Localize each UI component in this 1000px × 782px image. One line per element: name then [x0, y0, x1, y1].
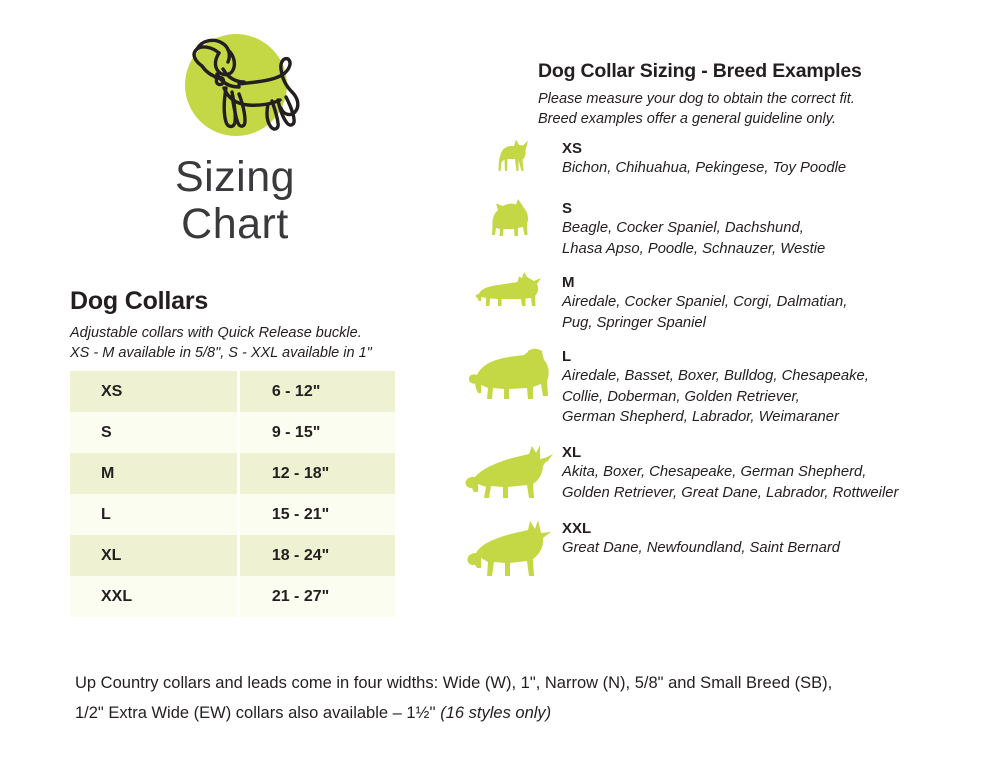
breed-size-label: L [562, 348, 869, 365]
size-cell: XXL [70, 576, 237, 617]
retriever-silhouette-icon [468, 346, 554, 406]
range-cell: 12 - 18" [237, 453, 395, 494]
table-row: M 12 - 18" [70, 453, 395, 494]
breed-examples-heading-block: Dog Collar Sizing - Breed Examples Pleas… [538, 60, 958, 129]
section-subtitle-line-2: XS - M available in 5/8", S - XXL availa… [70, 343, 430, 363]
breed-size-label: S [562, 200, 825, 217]
breed-size-label: XS [562, 140, 846, 157]
dog-collars-heading-block: Dog Collars Adjustable collars with Quic… [70, 287, 430, 363]
breed-examples-text: Akita, Boxer, Chesapeake, German Shepher… [562, 462, 898, 503]
great-dane-silhouette-icon [465, 518, 557, 582]
chihuahua-silhouette-icon [488, 138, 534, 178]
breed-icon-slot [460, 346, 562, 406]
list-item: S Beagle, Cocker Spaniel, Dachshund, Lha… [460, 198, 960, 270]
footer-line-2-text: 1/2" Extra Wide (EW) collars also availa… [75, 704, 440, 722]
list-item: L Airedale, Basset, Boxer, Bulldog, Ches… [460, 346, 960, 440]
breed-size-label: XXL [562, 520, 840, 537]
breed-examples-title: Dog Collar Sizing - Breed Examples [538, 60, 958, 83]
wordmark-line-2: Chart [70, 201, 400, 248]
footer-line-2: 1/2" Extra Wide (EW) collars also availa… [75, 698, 965, 728]
breed-text: S Beagle, Cocker Spaniel, Dachshund, Lha… [562, 198, 825, 259]
range-cell: 18 - 24" [237, 535, 395, 576]
sizing-chart-page: Sizing Chart Dog Collars Adjustable coll… [0, 0, 1000, 782]
breed-size-label: XL [562, 444, 898, 461]
collar-size-table: XS 6 - 12" S 9 - 15" M 12 - 18" L 15 - 2… [70, 371, 395, 617]
table-row: L 15 - 21" [70, 494, 395, 535]
section-title: Dog Collars [70, 287, 430, 316]
breed-subtitle-line-1: Please measure your dog to obtain the co… [538, 89, 958, 109]
breed-icon-slot [460, 198, 562, 242]
breed-icon-slot [460, 138, 562, 178]
footer-line-1: Up Country collars and leads come in fou… [75, 668, 965, 698]
breed-subtitle-line-2: Breed examples offer a general guideline… [538, 109, 958, 129]
range-cell: 9 - 15" [237, 412, 395, 453]
list-item: XL Akita, Boxer, Chesapeake, German Shep… [460, 442, 960, 516]
logo-block: Sizing Chart [70, 28, 400, 248]
terrier-silhouette-icon [485, 198, 537, 242]
breed-examples-text: Bichon, Chihuahua, Pekingese, Toy Poodle [562, 158, 846, 179]
table-row: XXL 21 - 27" [70, 576, 395, 617]
breed-text: L Airedale, Basset, Boxer, Bulldog, Ches… [562, 346, 869, 428]
size-cell: XS [70, 371, 237, 412]
size-table-body: XS 6 - 12" S 9 - 15" M 12 - 18" L 15 - 2… [70, 371, 395, 617]
corgi-silhouette-icon [475, 272, 547, 314]
table-row: S 9 - 15" [70, 412, 395, 453]
list-item: XXL Great Dane, Newfoundland, Saint Bern… [460, 518, 960, 578]
range-cell: 21 - 27" [237, 576, 395, 617]
breed-text: M Airedale, Cocker Spaniel, Corgi, Dalma… [562, 272, 847, 333]
size-cell: L [70, 494, 237, 535]
breed-icon-slot [460, 518, 562, 582]
list-item: XS Bichon, Chihuahua, Pekingese, Toy Poo… [460, 138, 960, 196]
breed-examples-text: Great Dane, Newfoundland, Saint Bernard [562, 538, 840, 559]
breed-examples-text: Airedale, Cocker Spaniel, Corgi, Dalmati… [562, 292, 847, 333]
table-row: XL 18 - 24" [70, 535, 395, 576]
wordmark-line-1: Sizing [70, 154, 400, 201]
size-cell: M [70, 453, 237, 494]
size-cell: S [70, 412, 237, 453]
table-row: XS 6 - 12" [70, 371, 395, 412]
breed-text: XS Bichon, Chihuahua, Pekingese, Toy Poo… [562, 138, 846, 179]
breed-size-label: M [562, 274, 847, 291]
breed-text: XXL Great Dane, Newfoundland, Saint Bern… [562, 518, 840, 559]
breed-icon-slot [460, 272, 562, 314]
german-shepherd-silhouette-icon [464, 442, 558, 504]
range-cell: 15 - 21" [237, 494, 395, 535]
breed-text: XL Akita, Boxer, Chesapeake, German Shep… [562, 442, 898, 503]
section-subtitle-line-1: Adjustable collars with Quick Release bu… [70, 323, 430, 343]
breed-examples-text: Beagle, Cocker Spaniel, Dachshund, Lhasa… [562, 218, 825, 259]
footer-note: Up Country collars and leads come in fou… [75, 668, 965, 728]
breed-examples-text: Airedale, Basset, Boxer, Bulldog, Chesap… [562, 366, 869, 428]
breed-icon-slot [460, 442, 562, 504]
dog-line-art-icon [140, 28, 330, 148]
breed-examples-subtitle: Please measure your dog to obtain the co… [538, 89, 958, 129]
section-subtitle: Adjustable collars with Quick Release bu… [70, 323, 430, 363]
logo-wordmark: Sizing Chart [70, 154, 400, 248]
list-item: M Airedale, Cocker Spaniel, Corgi, Dalma… [460, 272, 960, 344]
footer-line-2-note: (16 styles only) [440, 704, 551, 722]
size-cell: XL [70, 535, 237, 576]
range-cell: 6 - 12" [237, 371, 395, 412]
breed-list: XS Bichon, Chihuahua, Pekingese, Toy Poo… [460, 138, 960, 580]
